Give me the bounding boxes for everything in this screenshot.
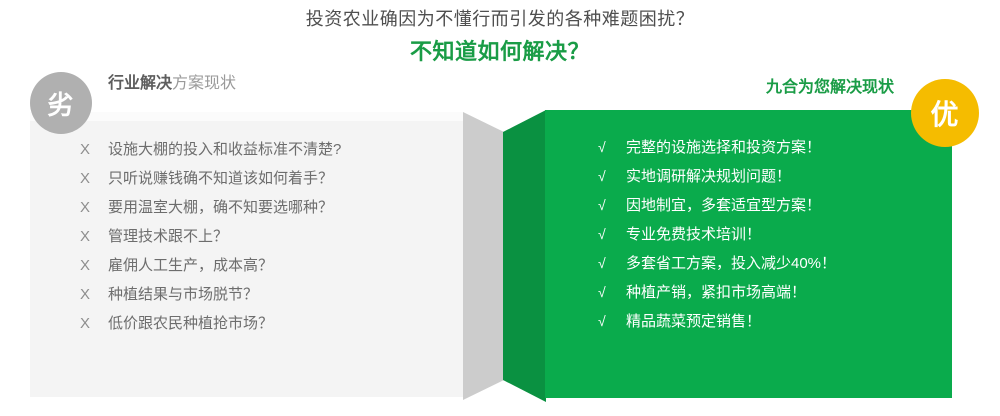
- solutions-subtitle: 九合为您解决现状: [766, 73, 894, 97]
- cross-icon: X: [80, 287, 108, 302]
- problems-list-item-label: 雇佣人工生产，成本高？: [108, 258, 273, 273]
- solutions-list: √完整的设施选择和投资方案！√实地调研解决规划问题！√因地制宜，多套适宜型方案！…: [598, 140, 948, 343]
- problems-list-item: X要用温室大棚，确不知要选哪种？: [80, 200, 460, 229]
- cross-icon: X: [80, 258, 108, 273]
- solutions-list-item: √完整的设施选择和投资方案！: [598, 140, 948, 169]
- badge-superior: 优: [911, 79, 979, 147]
- solutions-list-item-label: 专业免费技术培训！: [626, 227, 761, 242]
- solutions-list-item-label: 完整的设施选择和投资方案！: [626, 140, 821, 155]
- gray-fold-shape: [463, 96, 504, 416]
- cross-icon: X: [80, 200, 108, 215]
- page-title: 投资农业确因为不懂行而引发的各种难题困扰？ 不知道如何解决？: [0, 8, 1000, 66]
- cross-icon: X: [80, 142, 108, 157]
- problems-subtitle-rest: 方案现状: [172, 75, 236, 92]
- problems-list-item-label: 管理技术跟不上？: [108, 229, 228, 244]
- check-icon: √: [598, 169, 626, 183]
- solutions-list-item: √实地调研解决规划问题！: [598, 169, 948, 198]
- check-icon: √: [598, 256, 626, 270]
- problems-list-item-label: 种植结果与市场脱节？: [108, 287, 258, 302]
- solutions-list-item: √种植产销，紧扣市场高端！: [598, 285, 948, 314]
- check-icon: √: [598, 198, 626, 212]
- solutions-list-item-label: 多套省工方案，投入减少40%！: [626, 256, 836, 271]
- solutions-list-item-label: 因地制宜，多套适宜型方案！: [626, 198, 821, 213]
- headline-line-2: 不知道如何解决？: [0, 37, 1000, 66]
- solutions-list-item-label: 实地调研解决规划问题！: [626, 169, 791, 184]
- cross-icon: X: [80, 229, 108, 244]
- problems-list-item: X设施大棚的投入和收益标准不清楚?: [80, 142, 460, 171]
- problems-subtitle-strong: 行业解决: [108, 75, 172, 92]
- problems-list-item: X雇佣人工生产，成本高？: [80, 258, 460, 287]
- badge-inferior: 劣: [30, 72, 92, 134]
- problems-list-item: X管理技术跟不上？: [80, 229, 460, 258]
- green-fold-shape: [503, 96, 546, 416]
- check-icon: √: [598, 140, 626, 154]
- problems-list: X设施大棚的投入和收益标准不清楚?X只听说赚钱确不知道该如何着手？X要用温室大棚…: [80, 142, 460, 345]
- problems-panel-top-band: [30, 112, 463, 121]
- problems-list-item-label: 低价跟农民种植抢市场？: [108, 316, 273, 331]
- problems-list-item: X只听说赚钱确不知道该如何着手？: [80, 171, 460, 200]
- check-icon: √: [598, 285, 626, 299]
- problems-list-item-label: 只听说赚钱确不知道该如何着手？: [108, 171, 333, 186]
- problems-list-item-label: 要用温室大棚，确不知要选哪种？: [108, 200, 333, 215]
- solutions-list-item: √因地制宜，多套适宜型方案！: [598, 198, 948, 227]
- cross-icon: X: [80, 316, 108, 331]
- solutions-list-item-label: 精品蔬菜预定销售！: [626, 314, 761, 329]
- comparison-banner: 投资农业确因为不懂行而引发的各种难题困扰？ 不知道如何解决？ 劣 优 行业解决方…: [0, 0, 1000, 416]
- solutions-list-item: √多套省工方案，投入减少40%！: [598, 256, 948, 285]
- problems-list-item: X低价跟农民种植抢市场？: [80, 316, 460, 345]
- problems-subtitle: 行业解决方案现状: [108, 69, 236, 93]
- cross-icon: X: [80, 171, 108, 186]
- solutions-list-item: √精品蔬菜预定销售！: [598, 314, 948, 343]
- solutions-list-item-label: 种植产销，紧扣市场高端！: [626, 285, 806, 300]
- solutions-list-item: √专业免费技术培训！: [598, 227, 948, 256]
- problems-list-item-label: 设施大棚的投入和收益标准不清楚?: [108, 142, 341, 157]
- problems-list-item: X种植结果与市场脱节？: [80, 287, 460, 316]
- check-icon: √: [598, 227, 626, 241]
- headline-line-1: 投资农业确因为不懂行而引发的各种难题困扰？: [0, 8, 1000, 32]
- check-icon: √: [598, 314, 626, 328]
